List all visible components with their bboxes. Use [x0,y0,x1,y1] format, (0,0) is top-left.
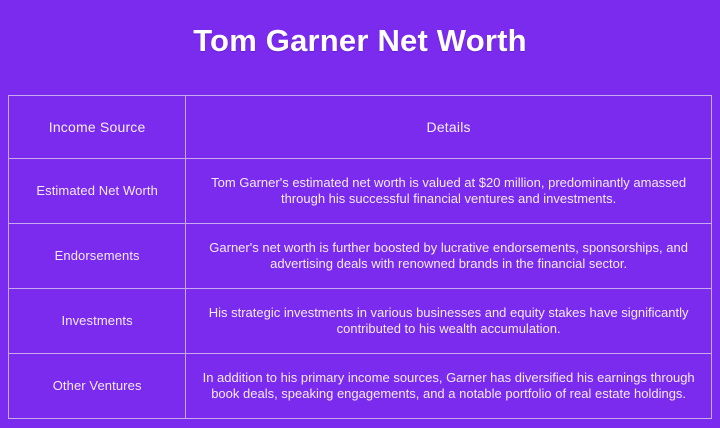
income-source-cell: Estimated Net Worth [9,159,186,224]
details-cell: His strategic investments in various bus… [186,289,712,354]
details-cell: In addition to his primary income source… [186,354,712,419]
income-source-cell: Endorsements [9,224,186,289]
table-row: Estimated Net Worth Tom Garner's estimat… [9,159,712,224]
net-worth-infographic: Tom Garner Net Worth Income Source Detai… [0,0,720,428]
table-header-row: Income Source Details [9,96,712,159]
column-header-income-source: Income Source [9,96,186,159]
page-title: Tom Garner Net Worth [0,22,720,60]
details-cell: Garner's net worth is further boosted by… [186,224,712,289]
income-source-cell: Other Ventures [9,354,186,419]
net-worth-table: Income Source Details Estimated Net Wort… [8,95,712,419]
income-source-cell: Investments [9,289,186,354]
table-row: Investments His strategic investments in… [9,289,712,354]
table-row: Other Ventures In addition to his primar… [9,354,712,419]
column-header-details: Details [186,96,712,159]
details-cell: Tom Garner's estimated net worth is valu… [186,159,712,224]
table-row: Endorsements Garner's net worth is furth… [9,224,712,289]
